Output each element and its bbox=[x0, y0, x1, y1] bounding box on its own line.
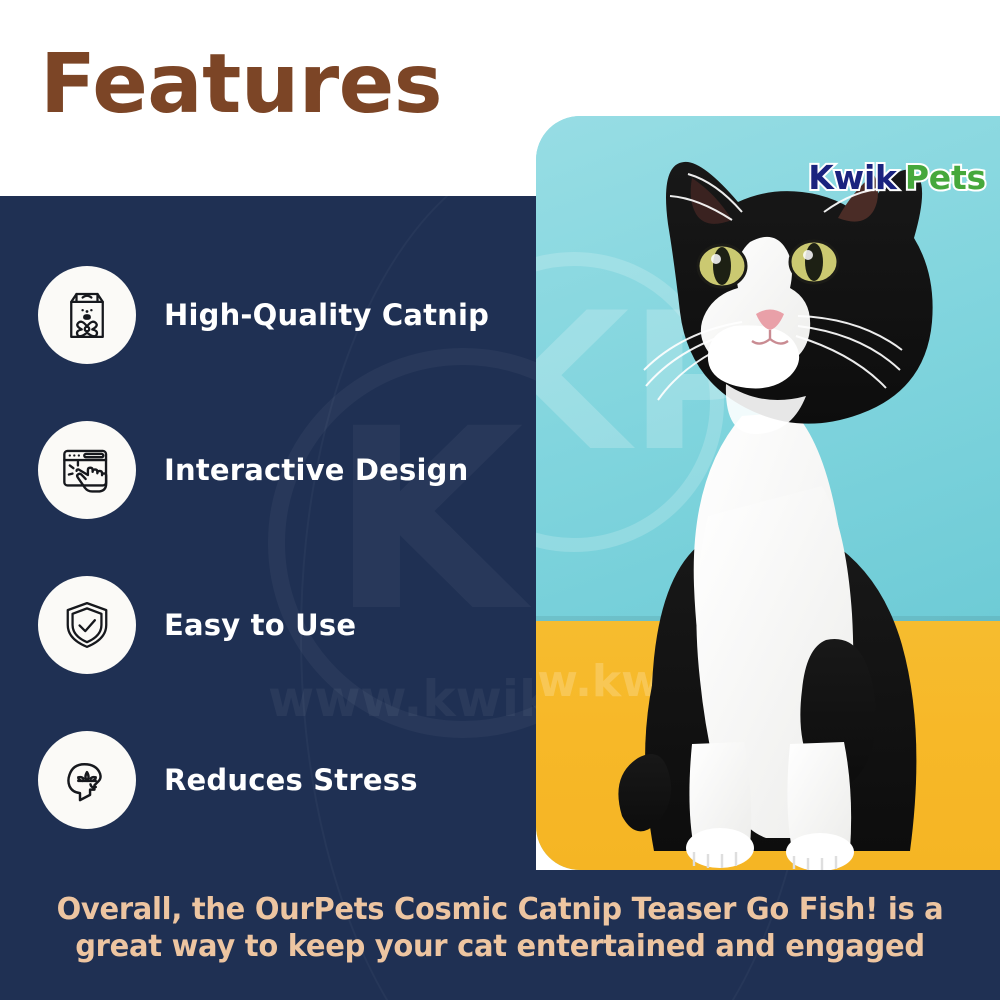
page-title: Features bbox=[40, 44, 442, 126]
brand-logo-kwik: Kwik bbox=[808, 158, 897, 197]
feature-label: High-Quality Catnip bbox=[164, 298, 489, 332]
footer-summary: Overall, the OurPets Cosmic Catnip Tease… bbox=[18, 892, 983, 965]
feature-item-reduces-stress[interactable]: Reduces Stress bbox=[38, 731, 418, 829]
brand-logo-pets: Pets bbox=[905, 158, 986, 197]
brand-logo: KwikPets bbox=[808, 158, 986, 197]
feature-poster: Features KP www.kwikpets.c bbox=[0, 0, 1000, 1000]
feature-item-easy-to-use[interactable]: Easy to Use bbox=[38, 576, 356, 674]
feature-item-interactive-design[interactable]: Interactive Design bbox=[38, 421, 468, 519]
feature-label: Reduces Stress bbox=[164, 763, 418, 797]
footer-line-2: great way to keep your cat entertained a… bbox=[18, 929, 983, 966]
feature-item-catnip[interactable]: High-Quality Catnip bbox=[38, 266, 489, 364]
footer-line-1: Overall, the OurPets Cosmic Catnip Tease… bbox=[18, 892, 983, 929]
head-lotus-icon bbox=[38, 731, 136, 829]
product-photo-card: KP www.kwikpets.c bbox=[536, 116, 1000, 870]
shield-check-icon bbox=[38, 576, 136, 674]
cat-photo bbox=[536, 116, 1000, 870]
feature-label: Easy to Use bbox=[164, 608, 356, 642]
feature-label: Interactive Design bbox=[164, 453, 468, 487]
catnip-bag-icon bbox=[38, 266, 136, 364]
interactive-window-click-icon bbox=[38, 421, 136, 519]
